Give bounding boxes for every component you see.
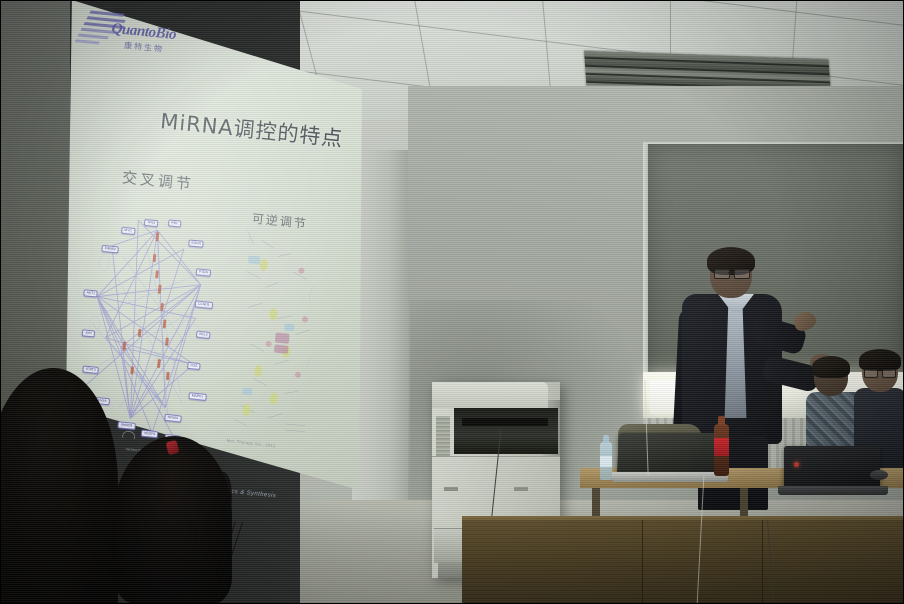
slide-citation: Mol. Therapy Sci., 2012	[226, 438, 275, 449]
table-seam	[642, 520, 643, 604]
laptop-silver[interactable]	[617, 433, 724, 476]
glasses-icon	[864, 369, 896, 376]
attendee-glasses-hair	[859, 349, 901, 371]
attendee-plaid-hair	[812, 356, 850, 378]
table-seam	[762, 520, 763, 604]
copier-output-slot	[454, 408, 558, 454]
laptop-black[interactable]	[784, 446, 880, 488]
slide-subtitle-left: 交叉调节	[121, 166, 195, 194]
laptop-indicator-light-icon	[794, 462, 799, 467]
table-front-panel	[462, 520, 904, 604]
copier-lid	[432, 382, 548, 408]
foreground-person-head	[0, 368, 118, 604]
quantobio-logo: QuantoBio 康特生物	[79, 8, 203, 72]
slide-title: MiRNA调控的特点	[159, 105, 344, 153]
pathway-diagram	[222, 219, 336, 443]
laptop-black-base[interactable]	[778, 486, 888, 495]
glasses-icon	[714, 269, 750, 277]
projection-screen: QuantoBio 康特生物 MiRNA调控的特点 交叉调节 可逆调节	[66, 0, 366, 500]
pathway-glyphs	[222, 219, 336, 443]
logo-wordmark: QuantoBio	[111, 21, 177, 44]
coca-cola-bottle[interactable]	[714, 424, 729, 476]
table-wood-grain	[462, 520, 904, 604]
cola-label	[714, 438, 729, 456]
computer-mouse[interactable]	[870, 470, 888, 480]
copier-control-panel[interactable]	[436, 416, 450, 456]
laptop-silver-base[interactable]	[612, 472, 728, 482]
photo-scene: QuantoBio 康特生物 MiRNA调控的特点 交叉调节 可逆调节	[0, 0, 904, 604]
hair-strands	[185, 520, 233, 604]
water-bottle[interactable]	[600, 442, 612, 480]
